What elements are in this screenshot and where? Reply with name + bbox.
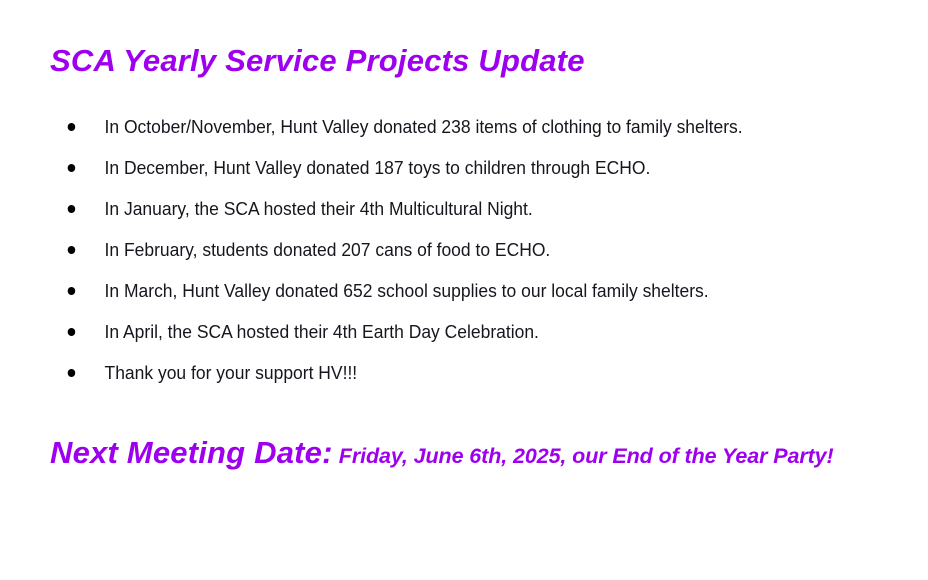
list-item-text: Thank you for your support HV!!! (105, 358, 358, 388)
list-item: In December, Hunt Valley donated 187 toy… (62, 153, 846, 194)
service-projects-bullet-list: In October/November, Hunt Valley donated… (62, 112, 892, 399)
bullet-dot-icon (68, 369, 76, 377)
next-meeting-label: Next Meeting Date: (50, 435, 333, 470)
list-item-text: In April, the SCA hosted their 4th Earth… (105, 317, 539, 347)
bullet-dot-icon (68, 205, 76, 213)
bullet-dot-icon (68, 328, 76, 336)
list-item: Thank you for your support HV!!! (62, 358, 846, 399)
next-meeting-detail: Friday, June 6th, 2025, our End of the Y… (339, 444, 834, 468)
next-meeting-block: Next Meeting Date: Friday, June 6th, 202… (50, 428, 900, 481)
list-item-text: In October/November, Hunt Valley donated… (105, 112, 743, 142)
list-item: In January, the SCA hosted their 4th Mul… (62, 194, 846, 235)
page-title: SCA Yearly Service Projects Update (50, 42, 890, 80)
list-item: In October/November, Hunt Valley donated… (62, 112, 846, 153)
list-item: In February, students donated 207 cans o… (62, 235, 846, 276)
bullet-dot-icon (68, 123, 76, 131)
bullet-dot-icon (68, 246, 76, 254)
bullet-dot-icon (68, 164, 76, 172)
list-item: In April, the SCA hosted their 4th Earth… (62, 317, 846, 358)
list-item-text: In December, Hunt Valley donated 187 toy… (105, 153, 651, 183)
list-item-text: In February, students donated 207 cans o… (105, 235, 551, 265)
list-item-text: In March, Hunt Valley donated 652 school… (105, 276, 709, 306)
list-item: In March, Hunt Valley donated 652 school… (62, 276, 846, 317)
list-item-text: In January, the SCA hosted their 4th Mul… (105, 194, 533, 224)
slide-canvas: SCA Yearly Service Projects Update In Oc… (0, 0, 928, 580)
bullet-dot-icon (68, 287, 76, 295)
